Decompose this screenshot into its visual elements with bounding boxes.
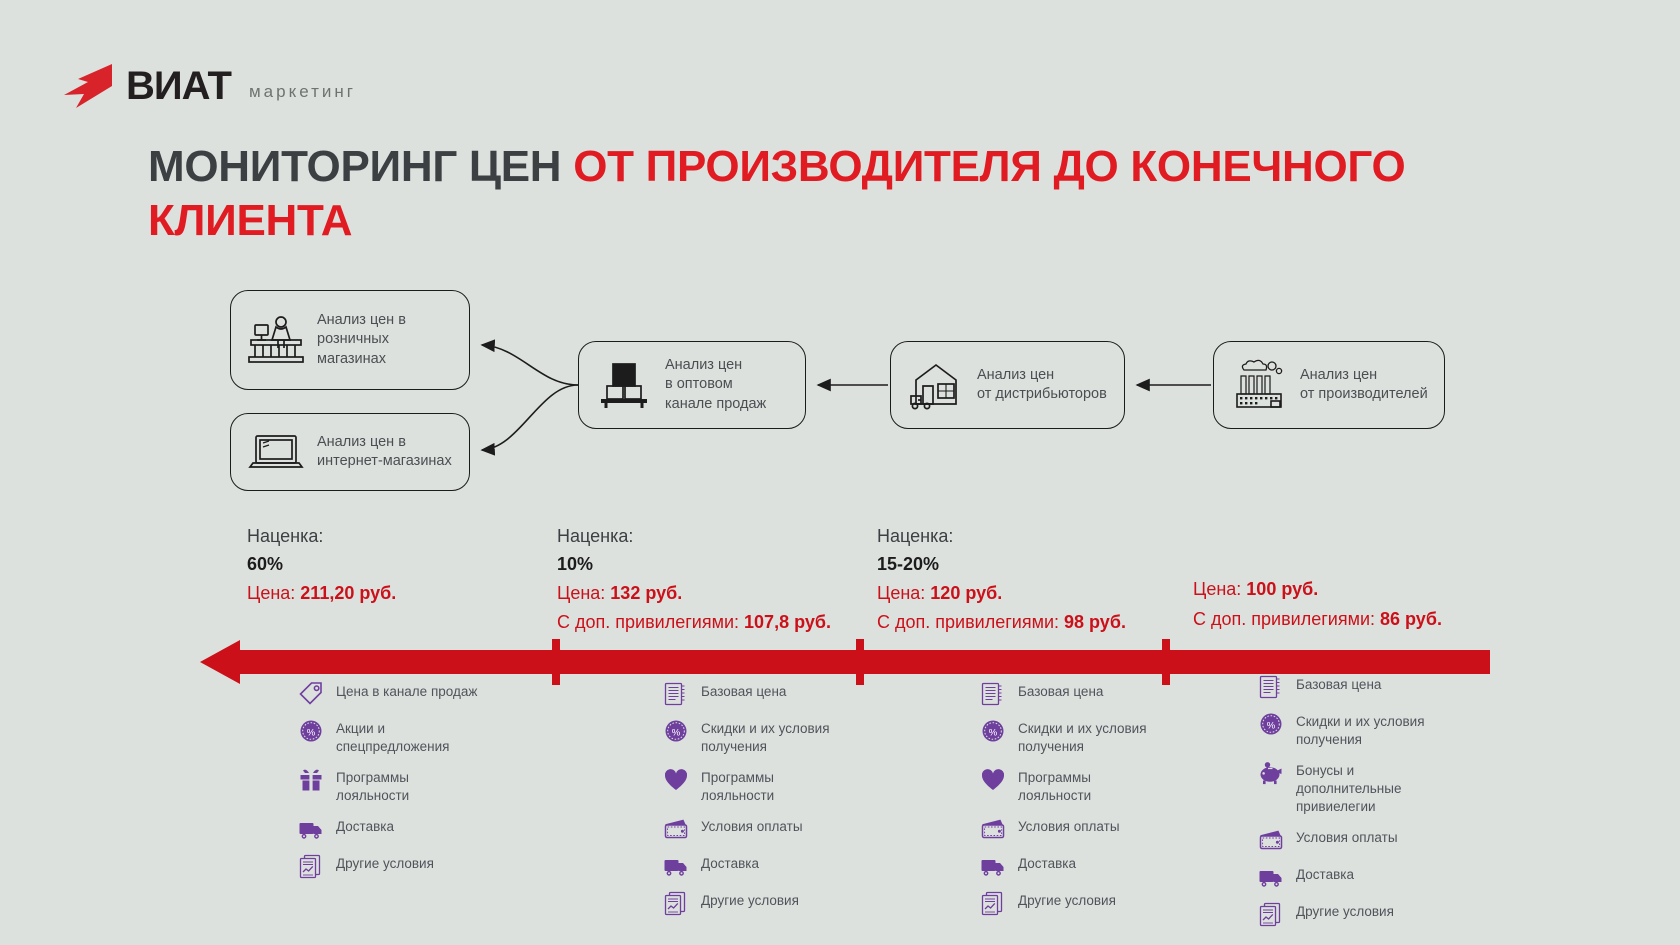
brand-name: ВИАТ: [126, 66, 231, 106]
document-chart-icon: [1258, 901, 1284, 927]
feature-item[interactable]: Базовая цена: [1258, 673, 1508, 700]
flow-box-distributor-label: Анализ ценот дистрибьюторов: [977, 366, 1107, 404]
feature-item-label: Другие условия: [701, 889, 799, 910]
markup-label: Наценка:: [247, 523, 396, 550]
feature-item[interactable]: Другие условия: [663, 889, 893, 916]
feature-item-label: Программылояльности: [336, 766, 409, 805]
price-block-manufacturer: Цена: 100 руб. С доп. привилегиями: 86 р…: [1193, 575, 1442, 634]
feature-item-label: Акции испецпредложения: [336, 717, 449, 756]
privilege-value: 107,8 руб.: [744, 612, 831, 632]
page-title-dark: МОНИТОРИНГ ЦЕН: [148, 142, 573, 191]
flow-box-wholesale-label: Анализ ценв оптовомканале продаж: [665, 356, 766, 413]
brand-subtitle: маркетинг: [249, 82, 356, 102]
feature-item-label: Доставка: [1296, 863, 1354, 884]
feature-item[interactable]: Другие условия: [1258, 900, 1508, 927]
price-block-wholesale: Наценка: 10% Цена: 132 руб. С доп. приви…: [557, 523, 831, 638]
flow-box-retail[interactable]: Анализ цен врозничныхмагазинах: [230, 290, 470, 390]
flow-box-wholesale[interactable]: Анализ ценв оптовомканале продаж: [578, 341, 806, 429]
document-chart-icon: [663, 890, 689, 916]
feature-item-label: Бонусы идополнительныепривиелегии: [1296, 759, 1401, 816]
page-title: МОНИТОРИНГ ЦЕН ОТ ПРОИЗВОДИТЕЛЯ ДО КОНЕЧ…: [148, 140, 1578, 247]
price-row: Цена: 100 руб.: [1193, 575, 1442, 605]
price-row: Цена: 120 руб.: [877, 579, 1126, 609]
feature-item-label: Условия оплаты: [1296, 826, 1398, 847]
feature-item-label: Базовая цена: [1018, 680, 1103, 701]
feature-item-label: Условия оплаты: [1018, 815, 1120, 836]
feature-item[interactable]: Цена в канале продаж: [298, 680, 528, 707]
timeline-tick: [856, 639, 864, 685]
price-block-distributor: Наценка: 15-20% Цена: 120 руб. С доп. пр…: [877, 523, 1126, 638]
document-chart-icon: [980, 890, 1006, 916]
feature-column-distributor: Базовая цена%Скидки и их условияполучени…: [980, 680, 1210, 926]
feature-item[interactable]: Доставка: [980, 852, 1210, 879]
percent-badge-icon: %: [663, 718, 689, 744]
pallet-boxes-icon: [593, 354, 655, 416]
document-icon: [663, 681, 689, 707]
price-label: Цена:: [877, 583, 925, 603]
feature-item-label: Скидки и их условияполучения: [1296, 710, 1425, 749]
feature-item-label: Другие условия: [1018, 889, 1116, 910]
heart-icon: [663, 767, 689, 793]
privilege-value: 98 руб.: [1064, 612, 1126, 632]
markup-label: Наценка:: [877, 523, 1126, 550]
feature-item-label: Доставка: [1018, 852, 1076, 873]
price-value: 120 руб.: [930, 583, 1002, 603]
feature-item-label: Скидки и их условияполучения: [1018, 717, 1147, 756]
privilege-value: 86 руб.: [1380, 609, 1442, 629]
truck-icon: [663, 853, 689, 879]
feature-item-label: Доставка: [336, 815, 394, 836]
feature-item[interactable]: Условия оплаты: [980, 815, 1210, 842]
svg-text:%: %: [989, 727, 998, 738]
price-row: Цена: 132 руб.: [557, 579, 831, 609]
flow-box-distributor[interactable]: Анализ ценот дистрибьюторов: [890, 341, 1125, 429]
feature-item[interactable]: Бонусы идополнительныепривиелегии: [1258, 759, 1508, 816]
feature-item[interactable]: %Скидки и их условияполучения: [663, 717, 893, 756]
privilege-label: С доп. привилегиями:: [557, 612, 739, 632]
svg-text:%: %: [1267, 720, 1276, 731]
wallet-icon: [1258, 827, 1284, 853]
markup-value: 60%: [247, 550, 396, 579]
markup-value: 15-20%: [877, 550, 1126, 579]
feature-item[interactable]: %Акции испецпредложения: [298, 717, 528, 756]
feature-item-label: Условия оплаты: [701, 815, 803, 836]
wallet-icon: [663, 816, 689, 842]
feature-item[interactable]: Другие условия: [298, 852, 528, 879]
laptop-icon: [245, 421, 307, 483]
truck-icon: [1258, 864, 1284, 890]
feature-item[interactable]: %Скидки и их условияполучения: [1258, 710, 1508, 749]
document-chart-icon: [298, 853, 324, 879]
price-label: Цена:: [557, 583, 605, 603]
feature-item[interactable]: Базовая цена: [980, 680, 1210, 707]
feature-item-label: Программылояльности: [1018, 766, 1091, 805]
flow-box-manufacturer-label: Анализ ценот производителей: [1300, 366, 1428, 404]
price-value: 132 руб.: [610, 583, 682, 603]
truck-icon: [980, 853, 1006, 879]
flow-box-online[interactable]: Анализ цен винтернет-магазинах: [230, 413, 470, 491]
price-value: 100 руб.: [1246, 579, 1318, 599]
red-arrow-logo-mark-icon: [62, 62, 116, 110]
feature-item-label: Базовая цена: [701, 680, 786, 701]
feature-item[interactable]: Доставка: [663, 852, 893, 879]
flow-box-retail-label: Анализ цен врозничныхмагазинах: [317, 311, 406, 368]
svg-text:%: %: [672, 727, 681, 738]
timeline-tick: [1162, 639, 1170, 685]
feature-column-wholesale: Базовая цена%Скидки и их условияполучени…: [663, 680, 893, 926]
price-value: 211,20 руб.: [300, 583, 396, 603]
wallet-icon: [980, 816, 1006, 842]
truck-icon: [298, 816, 324, 842]
warehouse-truck-icon: [905, 354, 967, 416]
feature-item[interactable]: Программылояльности: [298, 766, 528, 805]
document-icon: [1258, 674, 1284, 700]
feature-item-label: Базовая цена: [1296, 673, 1381, 694]
feature-column-manufacturer: Базовая цена%Скидки и их условияполучени…: [1258, 673, 1508, 937]
gift-icon: [298, 767, 324, 793]
price-label: Цена:: [247, 583, 295, 603]
document-icon: [980, 681, 1006, 707]
flow-box-manufacturer[interactable]: Анализ ценот производителей: [1213, 341, 1445, 429]
markup-value: 10%: [557, 550, 831, 579]
feature-item[interactable]: Программылояльности: [980, 766, 1210, 805]
brand-logo: ВИАТ маркетинг: [62, 62, 356, 110]
feature-item-label: Скидки и их условияполучения: [701, 717, 830, 756]
price-block-retail: Наценка: 60% Цена: 211,20 руб.: [247, 523, 396, 608]
feature-item[interactable]: Программылояльности: [663, 766, 893, 805]
percent-badge-icon: %: [1258, 711, 1284, 737]
feature-item[interactable]: Другие условия: [980, 889, 1210, 916]
feature-item-label: Цена в канале продаж: [336, 680, 477, 701]
price-label: Цена:: [1193, 579, 1241, 599]
timeline-tick: [552, 639, 560, 685]
cashier-counter-icon: [245, 309, 307, 371]
price-tag-icon: [298, 681, 324, 707]
svg-text:%: %: [307, 727, 316, 738]
feature-item[interactable]: %Скидки и их условияполучения: [980, 717, 1210, 756]
privilege-label: С доп. привилегиями:: [1193, 609, 1375, 629]
feature-item-label: Другие условия: [1296, 900, 1394, 921]
infographic-page: ВИАТ маркетинг МОНИТОРИНГ ЦЕН ОТ ПРОИЗВО…: [0, 0, 1680, 945]
feature-item[interactable]: Условия оплаты: [663, 815, 893, 842]
percent-badge-icon: %: [980, 718, 1006, 744]
factory-icon: [1228, 354, 1290, 416]
feature-item[interactable]: Базовая цена: [663, 680, 893, 707]
markup-label: Наценка:: [557, 523, 831, 550]
piggy-bank-icon: [1258, 760, 1284, 786]
percent-badge-icon: %: [298, 718, 324, 744]
feature-item-label: Программылояльности: [701, 766, 774, 805]
privilege-row: С доп. привилегиями: 86 руб.: [1193, 605, 1442, 635]
price-row: Цена: 211,20 руб.: [247, 579, 396, 609]
feature-item[interactable]: Доставка: [1258, 863, 1508, 890]
heart-icon: [980, 767, 1006, 793]
feature-column-retail: Цена в канале продаж%Акции испецпредложе…: [298, 680, 528, 889]
feature-item-label: Доставка: [701, 852, 759, 873]
feature-item[interactable]: Условия оплаты: [1258, 826, 1508, 853]
flow-box-online-label: Анализ цен винтернет-магазинах: [317, 433, 452, 471]
feature-item[interactable]: Доставка: [298, 815, 528, 842]
feature-item-label: Другие условия: [336, 852, 434, 873]
privilege-label: С доп. привилегиями:: [877, 612, 1059, 632]
